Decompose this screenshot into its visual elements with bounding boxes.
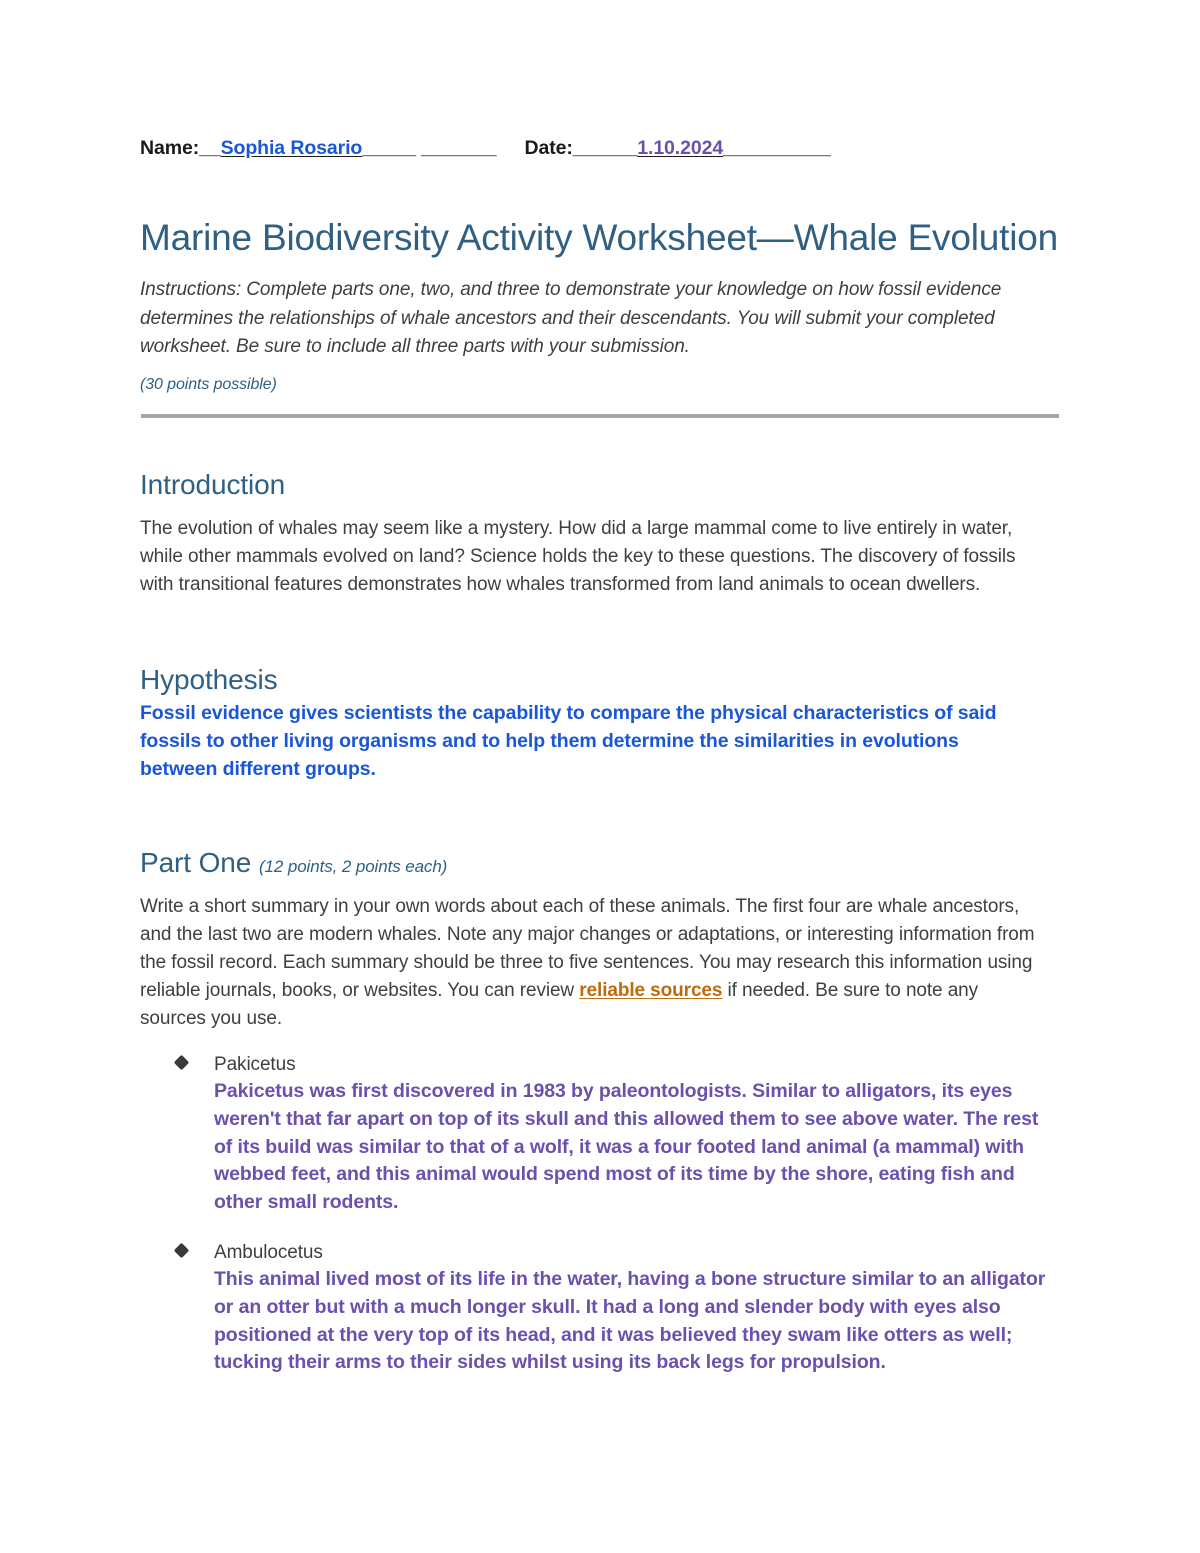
page-title: Marine Biodiversity Activity Worksheet—W… xyxy=(140,160,1060,260)
date-suffix-rule: __________ xyxy=(723,137,830,159)
name-value[interactable]: Sophia Rosario xyxy=(221,137,363,159)
heading-introduction: Introduction xyxy=(140,426,1060,502)
list-item: Ambulocetus This animal lived most of it… xyxy=(140,1239,1060,1377)
bullet-diamond-icon xyxy=(174,1242,190,1258)
points-possible-text: (30 points possible) xyxy=(140,362,1060,394)
part-one-points: (12 points, 2 points each) xyxy=(259,857,447,876)
introduction-body: The evolution of whales may seem like a … xyxy=(140,501,1045,599)
animal-answer[interactable]: Pakicetus was first discovered in 1983 b… xyxy=(214,1078,1060,1216)
animal-name: Pakicetus xyxy=(214,1051,1060,1079)
list-item: Pakicetus Pakicetus was first discovered… xyxy=(140,1051,1060,1217)
name-date-line: Name:__Sophia Rosario_____ _______Date:_… xyxy=(140,136,1060,160)
reliable-sources-link[interactable]: reliable sources xyxy=(579,980,722,1001)
bullet-diamond-icon xyxy=(174,1054,190,1070)
animal-name: Ambulocetus xyxy=(214,1239,1060,1267)
heading-hypothesis: Hypothesis xyxy=(140,599,1060,697)
heading-part-one: Part One (12 points, 2 points each) xyxy=(140,784,1060,880)
date-label: Date: xyxy=(525,137,573,159)
name-suffix-rule: _____ _______ xyxy=(362,137,496,159)
document-content: Name:__Sophia Rosario_____ _______Date:_… xyxy=(140,0,1060,1399)
instructions-text: Instructions: Complete parts one, two, a… xyxy=(140,260,1035,362)
date-prefix-rule: ______ xyxy=(573,137,637,159)
animal-answer[interactable]: This animal lived most of its life in th… xyxy=(214,1266,1060,1377)
worksheet-page: Name:__Sophia Rosario_____ _______Date:_… xyxy=(0,0,1200,1553)
part-one-label: Part One xyxy=(140,847,251,878)
animal-list: Pakicetus Pakicetus was first discovered… xyxy=(140,1033,1060,1377)
hypothesis-answer[interactable]: Fossil evidence gives scientists the cap… xyxy=(140,696,1040,783)
name-label: Name: xyxy=(140,137,199,159)
section-divider xyxy=(141,414,1059,418)
date-value[interactable]: 1.10.2024 xyxy=(637,137,723,159)
part-one-body: Write a short summary in your own words … xyxy=(140,879,1045,1033)
name-prefix-rule: __ xyxy=(199,137,221,159)
